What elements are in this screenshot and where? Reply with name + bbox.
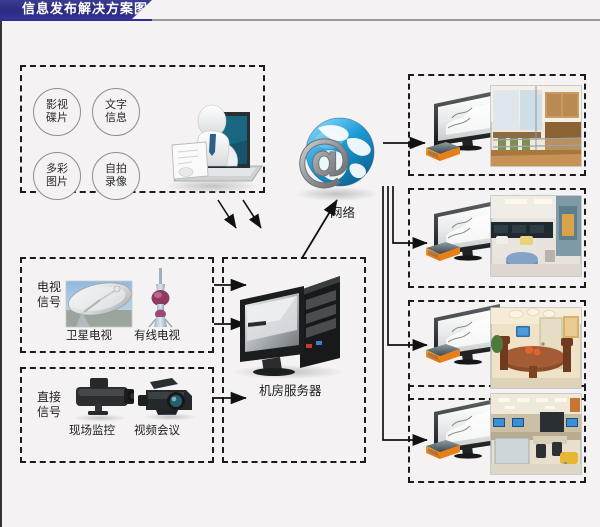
circle-line-2: 图片 — [46, 176, 68, 189]
endpoint-panel-2 — [408, 188, 586, 288]
endpoint-panel-1 — [408, 74, 586, 176]
satellite-tv-caption: 卫星电视 — [66, 329, 112, 343]
title-tab: 信息发布解决方案图 — [0, 0, 152, 19]
at-symbol: @ — [296, 127, 352, 192]
video-conf-caption: 视频会议 — [134, 424, 180, 438]
source-circle-pictures[interactable]: 多彩 图片 — [33, 152, 81, 200]
circle-line-2: 录像 — [105, 176, 127, 189]
circle-line-2: 信息 — [105, 112, 127, 125]
network-caption: 网络 — [330, 205, 355, 220]
site-monitor-caption: 现场监控 — [69, 424, 115, 438]
connector-media-to-server — [218, 200, 261, 228]
source-circle-text-info[interactable]: 文字 信息 — [92, 88, 140, 136]
diagram-canvas: 信息发布解决方案图 影视 碟片 文字 信息 多彩 图片 自拍 录像 电视 信号 … — [0, 0, 600, 527]
globe-at-icon: @ — [295, 118, 379, 201]
server-core-box — [222, 257, 366, 463]
source-circle-video-disc[interactable]: 影视 碟片 — [33, 88, 81, 136]
page-title: 信息发布解决方案图 — [22, 0, 148, 19]
direct-signal-label-line2: 信号 — [28, 405, 70, 420]
circle-line-2: 碟片 — [46, 112, 68, 125]
svg-text:@: @ — [296, 127, 352, 192]
cable-tv-caption: 有线电视 — [134, 329, 180, 343]
tv-signal-label-line1: 电视 — [28, 280, 70, 295]
source-circle-self-recording[interactable]: 自拍 录像 — [92, 152, 140, 200]
direct-signal-label-line1: 直接 — [28, 390, 70, 405]
endpoint-panel-4 — [408, 385, 586, 483]
server-caption: 机房服务器 — [259, 383, 322, 398]
title-rule-accent — [0, 19, 152, 21]
direct-signal-label: 直接 信号 — [28, 390, 70, 420]
tv-signal-label: 电视 信号 — [28, 280, 70, 310]
page-frame-left-border — [0, 21, 2, 527]
tv-signal-label-line2: 信号 — [28, 295, 70, 310]
titlebar: 信息发布解决方案图 — [0, 0, 600, 22]
